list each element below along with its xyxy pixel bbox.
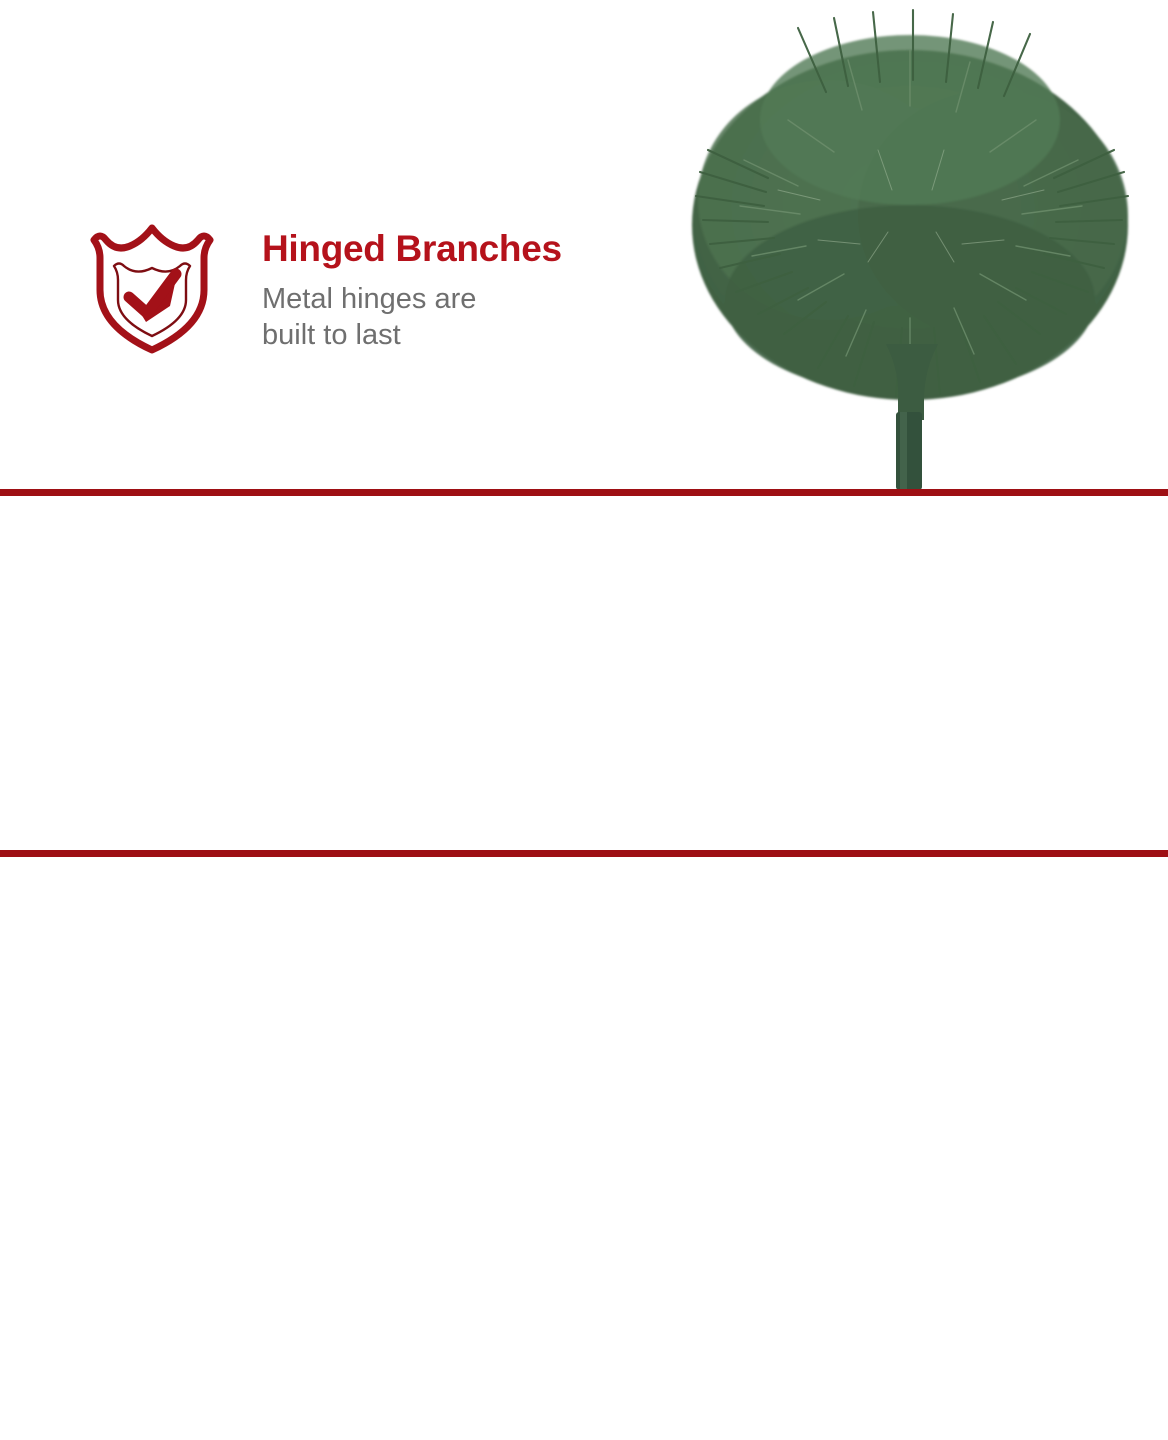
section-divider-2 xyxy=(0,850,1168,857)
hinged-branches-title: Hinged Branches xyxy=(262,230,562,269)
christmas-tree-top-photo xyxy=(648,0,1168,489)
hinged-branches-text-block: Hinged Branches Metal hinges are built t… xyxy=(262,230,562,354)
section-sturdy-base: Sturdy Base A reliable metal stand for y… xyxy=(0,857,1168,1440)
shield-check-icon xyxy=(86,214,218,356)
section-hinged-branches: Hinged Branches Metal hinges are built t… xyxy=(0,0,1168,494)
section-pvc-tips: PVC Tips Flame-retardant and easy to flu… xyxy=(0,496,1168,855)
hinged-branches-subtitle: Metal hinges are built to last xyxy=(262,281,562,354)
section-divider-1 xyxy=(0,489,1168,496)
hinged-branches-subtitle-line-2: built to last xyxy=(262,319,401,351)
tree-top-illustration xyxy=(648,0,1168,489)
product-feature-infographic: Hinged Branches Metal hinges are built t… xyxy=(0,0,1168,1440)
hinged-branches-subtitle-line-1: Metal hinges are xyxy=(262,283,476,315)
